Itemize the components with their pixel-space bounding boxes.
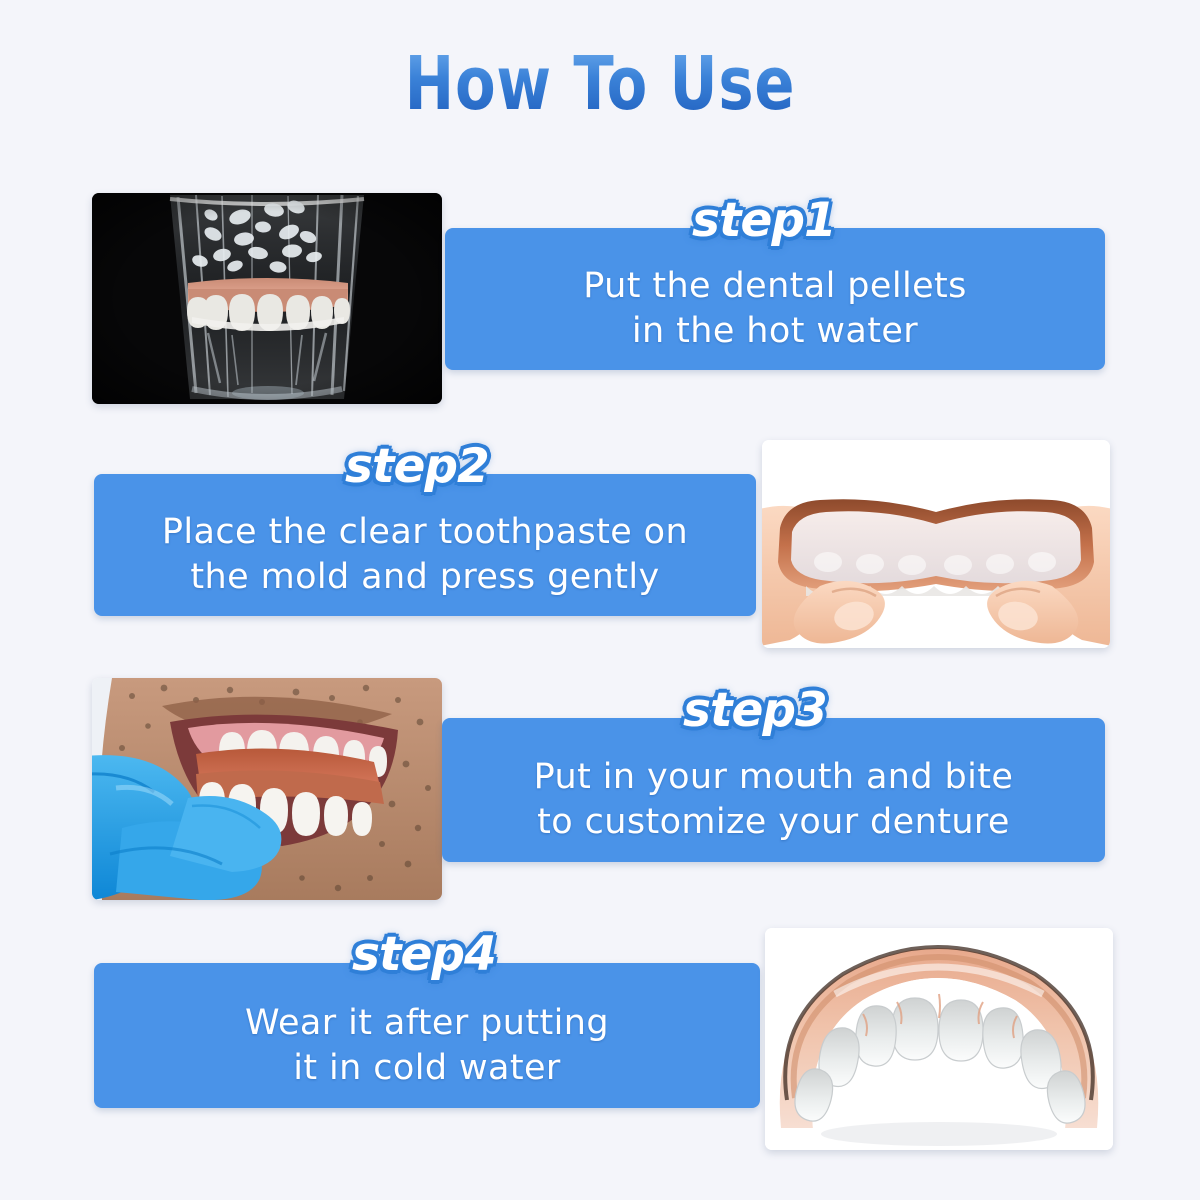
step-2-label: step2	[345, 442, 489, 492]
step-3-label: step3	[683, 686, 827, 736]
step-4-panel: Wear it after putting it in cold water	[94, 963, 760, 1108]
step-1-label: step1	[692, 196, 836, 246]
step-4-label: step4	[352, 930, 496, 980]
step-2-text: Place the clear toothpaste on the mold a…	[94, 510, 756, 600]
step-1-panel: Put the dental pellets in the hot water	[445, 228, 1105, 370]
step-3-text: Put in your mouth and bite to customize …	[442, 755, 1105, 845]
hands-holding-denture-mold-photo	[762, 440, 1110, 648]
page-title: How To Use	[120, 44, 1080, 124]
gloved-hands-fitting-denture-photo	[92, 678, 442, 900]
how-to-use-infographic: How To Use	[0, 0, 1200, 1200]
step-2-panel: Place the clear toothpaste on the mold a…	[94, 474, 756, 616]
glass-with-dental-pellets-photo	[92, 193, 442, 404]
step-4-text: Wear it after putting it in cold water	[94, 1001, 760, 1091]
step-1-text: Put the dental pellets in the hot water	[445, 264, 1105, 354]
finished-denture-veneer-photo	[765, 928, 1113, 1150]
step-3-panel: Put in your mouth and bite to customize …	[442, 718, 1105, 862]
